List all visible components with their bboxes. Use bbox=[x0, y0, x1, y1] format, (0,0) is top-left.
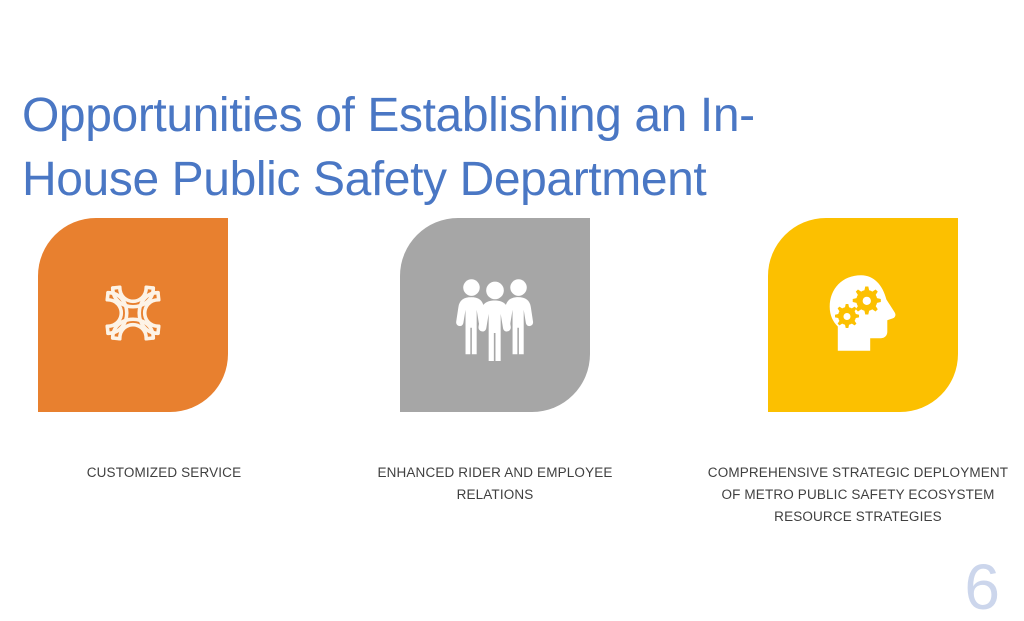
slide-page-number: 6 bbox=[964, 555, 1000, 619]
feature-tiles-row bbox=[0, 218, 1024, 414]
feature-caption-rider-employee-relations: ENHANCED RIDER AND EMPLOYEE RELATIONS bbox=[350, 462, 640, 506]
three-people-group-icon bbox=[447, 265, 543, 366]
head-with-gears-icon bbox=[818, 268, 908, 363]
feature-tile-strategic-deployment[interactable] bbox=[768, 218, 958, 412]
feature-caption-strategic-deployment: COMPREHENSIVE STRATEGIC DEPLOYMENT OF ME… bbox=[700, 462, 1016, 528]
slide-canvas: Opportunities of Establishing an In-Hous… bbox=[0, 0, 1024, 621]
feature-tile-rider-employee-relations[interactable] bbox=[400, 218, 590, 412]
network-nodes-x-icon bbox=[94, 274, 172, 357]
page-title: Opportunities of Establishing an In-Hous… bbox=[22, 84, 882, 211]
feature-tile-customized-service[interactable] bbox=[38, 218, 228, 412]
feature-caption-customized-service: CUSTOMIZED SERVICE bbox=[18, 462, 310, 484]
